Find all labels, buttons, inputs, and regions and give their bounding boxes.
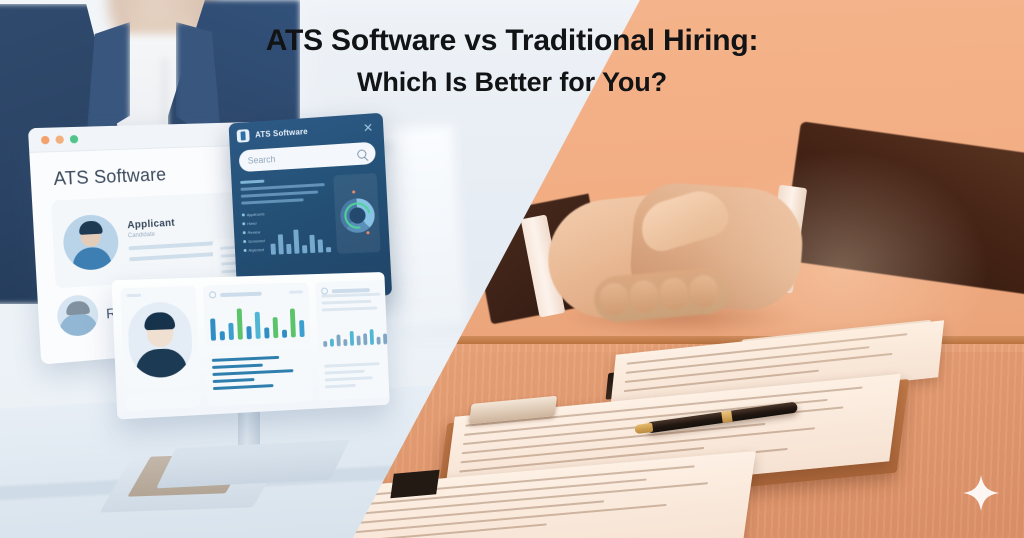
bar — [326, 247, 331, 253]
bar-chart-card[interactable] — [203, 282, 311, 347]
dashboard-list-lines — [212, 355, 307, 390]
bar — [287, 244, 292, 254]
maximize-green-dot-icon[interactable] — [70, 134, 79, 142]
bar — [310, 235, 316, 253]
bar — [383, 333, 387, 344]
profile-footer-card — [125, 391, 201, 411]
avatar-hair — [65, 301, 89, 316]
legend-item: Rejected — [244, 247, 267, 253]
accent-dot — [366, 231, 369, 234]
bar — [377, 336, 381, 344]
bar — [350, 331, 354, 345]
close-icon[interactable]: ✕ — [363, 121, 376, 134]
secondary-chart-card[interactable] — [315, 280, 390, 354]
bar — [255, 311, 261, 339]
resume-avatar-icon — [56, 294, 99, 338]
ats-dashboard-monitor[interactable] — [112, 272, 390, 420]
sparkle-star-icon — [962, 474, 1000, 512]
search-placeholder: Search — [248, 149, 358, 166]
bar — [271, 243, 276, 255]
applicant-detail-line — [129, 241, 219, 250]
bar — [273, 317, 279, 338]
secondary-list-lines — [324, 362, 389, 389]
bar — [278, 234, 284, 254]
secondary-bar-chart — [322, 313, 387, 347]
ats-chart-row: Applicants Hired Review Screened Rejecte… — [242, 208, 332, 257]
dashboard-bar-chart — [209, 295, 304, 340]
ats-app-icon — [237, 129, 250, 143]
bar — [299, 320, 305, 337]
list-card[interactable] — [206, 349, 314, 407]
user-avatar-icon — [62, 214, 120, 272]
bar — [363, 333, 367, 345]
legend-item: Applicants — [242, 211, 265, 217]
bar-chart-title — [220, 291, 262, 296]
secondary-card-title — [332, 288, 370, 293]
profile-card-header — [127, 292, 190, 297]
dashboard-secondary-column — [315, 280, 390, 401]
secondary-card-lines — [321, 292, 385, 311]
ats-summary-lines — [240, 176, 329, 205]
bar-chart-tag — [289, 290, 303, 293]
search-icon[interactable] — [357, 149, 367, 159]
ats-donut-card — [334, 173, 381, 254]
bar — [370, 329, 374, 344]
bar — [290, 309, 296, 338]
accent-dot — [353, 190, 356, 193]
bar — [294, 229, 300, 253]
avatar-hair — [78, 221, 102, 235]
bar — [302, 245, 307, 253]
browser-heading: ATS Software — [29, 145, 258, 199]
ats-panel-title: ATS Software — [255, 127, 308, 140]
legend-item: Review — [243, 229, 266, 235]
legend-item: Hired — [242, 220, 265, 226]
ats-chart-legend: Applicants Hired Review Screened Rejecte… — [242, 211, 267, 257]
secondary-list-card — [318, 356, 390, 401]
bar — [336, 335, 340, 347]
profile-card-tag — [127, 294, 142, 298]
list-line — [213, 378, 255, 383]
bar — [330, 338, 334, 346]
dashboard-chart-column — [203, 282, 313, 406]
list-line — [212, 364, 263, 369]
bar — [220, 331, 225, 341]
close-red-dot-icon[interactable] — [41, 135, 50, 143]
document-header-block — [390, 470, 439, 498]
bar — [343, 339, 347, 346]
profile-card[interactable] — [120, 286, 200, 389]
bar — [210, 319, 216, 341]
bar — [246, 326, 251, 339]
ats-bar-chart — [269, 208, 331, 255]
ats-panel-body: Applicants Hired Review Screened Rejecte… — [231, 163, 390, 258]
banner-canvas: ATS Software Applicant Candidate — [0, 0, 1024, 538]
ats-chart-column: Applicants Hired Review Screened Rejecte… — [240, 176, 332, 258]
legend-item: Screened — [243, 238, 266, 244]
minimize-yellow-dot-icon[interactable] — [55, 135, 64, 143]
list-line — [213, 384, 273, 390]
bar — [323, 341, 327, 347]
avatar-hair — [144, 312, 175, 330]
list-line — [212, 369, 293, 376]
bar — [282, 330, 287, 338]
list-line — [212, 356, 280, 362]
dashboard-profile-column — [120, 286, 201, 411]
user-avatar-icon — [127, 301, 193, 379]
bar — [228, 323, 234, 340]
bar — [318, 239, 324, 252]
bar — [237, 308, 243, 339]
bar — [357, 336, 361, 345]
bar — [264, 328, 269, 339]
